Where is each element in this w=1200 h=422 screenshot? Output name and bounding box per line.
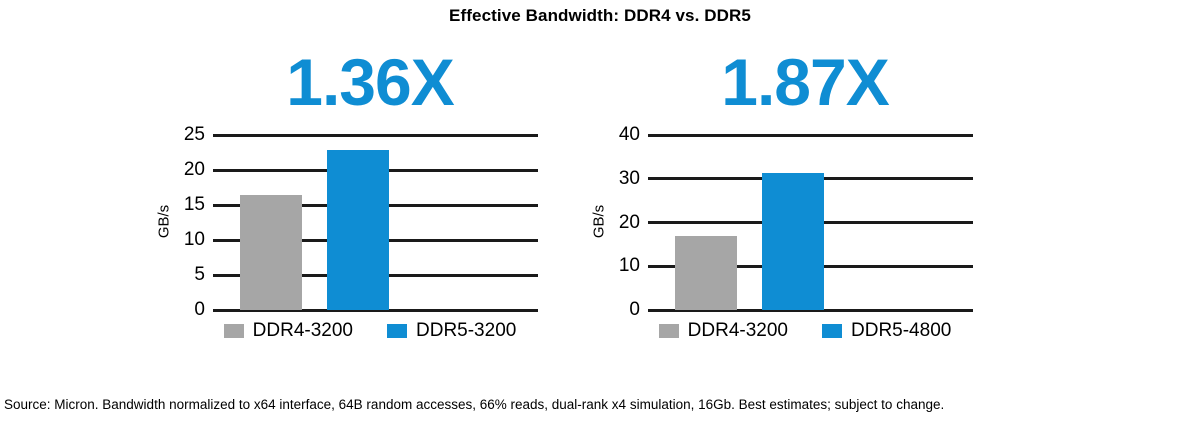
legend-item: DDR4-3200 (659, 320, 788, 342)
bar-ddr4-3200 (675, 236, 737, 310)
legend-item: DDR4-3200 (224, 320, 353, 342)
y-axis-tick-label: 20 (586, 213, 640, 232)
legend-label: DDR4-3200 (253, 320, 353, 342)
y-axis-tick-label: 30 (586, 169, 640, 188)
y-axis-tick-label: 15 (151, 195, 205, 214)
chart-panel-left: 1.36X GB/s 0510152025 DDR4-3200 DDR5-320… (135, 40, 605, 380)
legend-swatch-icon (659, 324, 679, 338)
y-axis-tick-label: 25 (151, 125, 205, 144)
multiplier-label-right: 1.87X (570, 46, 1040, 118)
source-note: Source: Micron. Bandwidth normalized to … (4, 397, 1196, 413)
page-title: Effective Bandwidth: DDR4 vs. DDR5 (0, 6, 1200, 26)
legend-label: DDR5-4800 (851, 320, 951, 342)
y-axis-tick-label: 0 (151, 300, 205, 319)
gridline (648, 134, 973, 137)
legend-swatch-icon (387, 324, 407, 338)
y-axis-tick-label: 40 (586, 125, 640, 144)
legend-swatch-icon (822, 324, 842, 338)
plot-area-right: GB/s 010203040 (570, 135, 1040, 310)
gridline (213, 134, 538, 137)
legend-label: DDR5-3200 (416, 320, 516, 342)
multiplier-label-left: 1.36X (135, 46, 605, 118)
y-axis-tick-label: 20 (151, 160, 205, 179)
chart-panel-right: 1.87X GB/s 010203040 DDR4-3200 DDR5-4800 (570, 40, 1040, 380)
y-axis-tick-label: 10 (151, 230, 205, 249)
y-axis-tick-label: 10 (586, 256, 640, 275)
bar-ddr5-3200 (327, 150, 389, 310)
legend-item: DDR5-4800 (822, 320, 951, 342)
y-axis-tick-label: 5 (151, 265, 205, 284)
legend-left: DDR4-3200 DDR5-3200 (135, 320, 605, 342)
legend-right: DDR4-3200 DDR5-4800 (570, 320, 1040, 342)
bar-ddr4-3200 (240, 195, 302, 310)
legend-swatch-icon (224, 324, 244, 338)
legend-label: DDR4-3200 (688, 320, 788, 342)
y-axis-tick-label: 0 (586, 300, 640, 319)
bar-ddr5-4800 (762, 173, 824, 310)
legend-item: DDR5-3200 (387, 320, 516, 342)
plot-area-left: GB/s 0510152025 (135, 135, 605, 310)
